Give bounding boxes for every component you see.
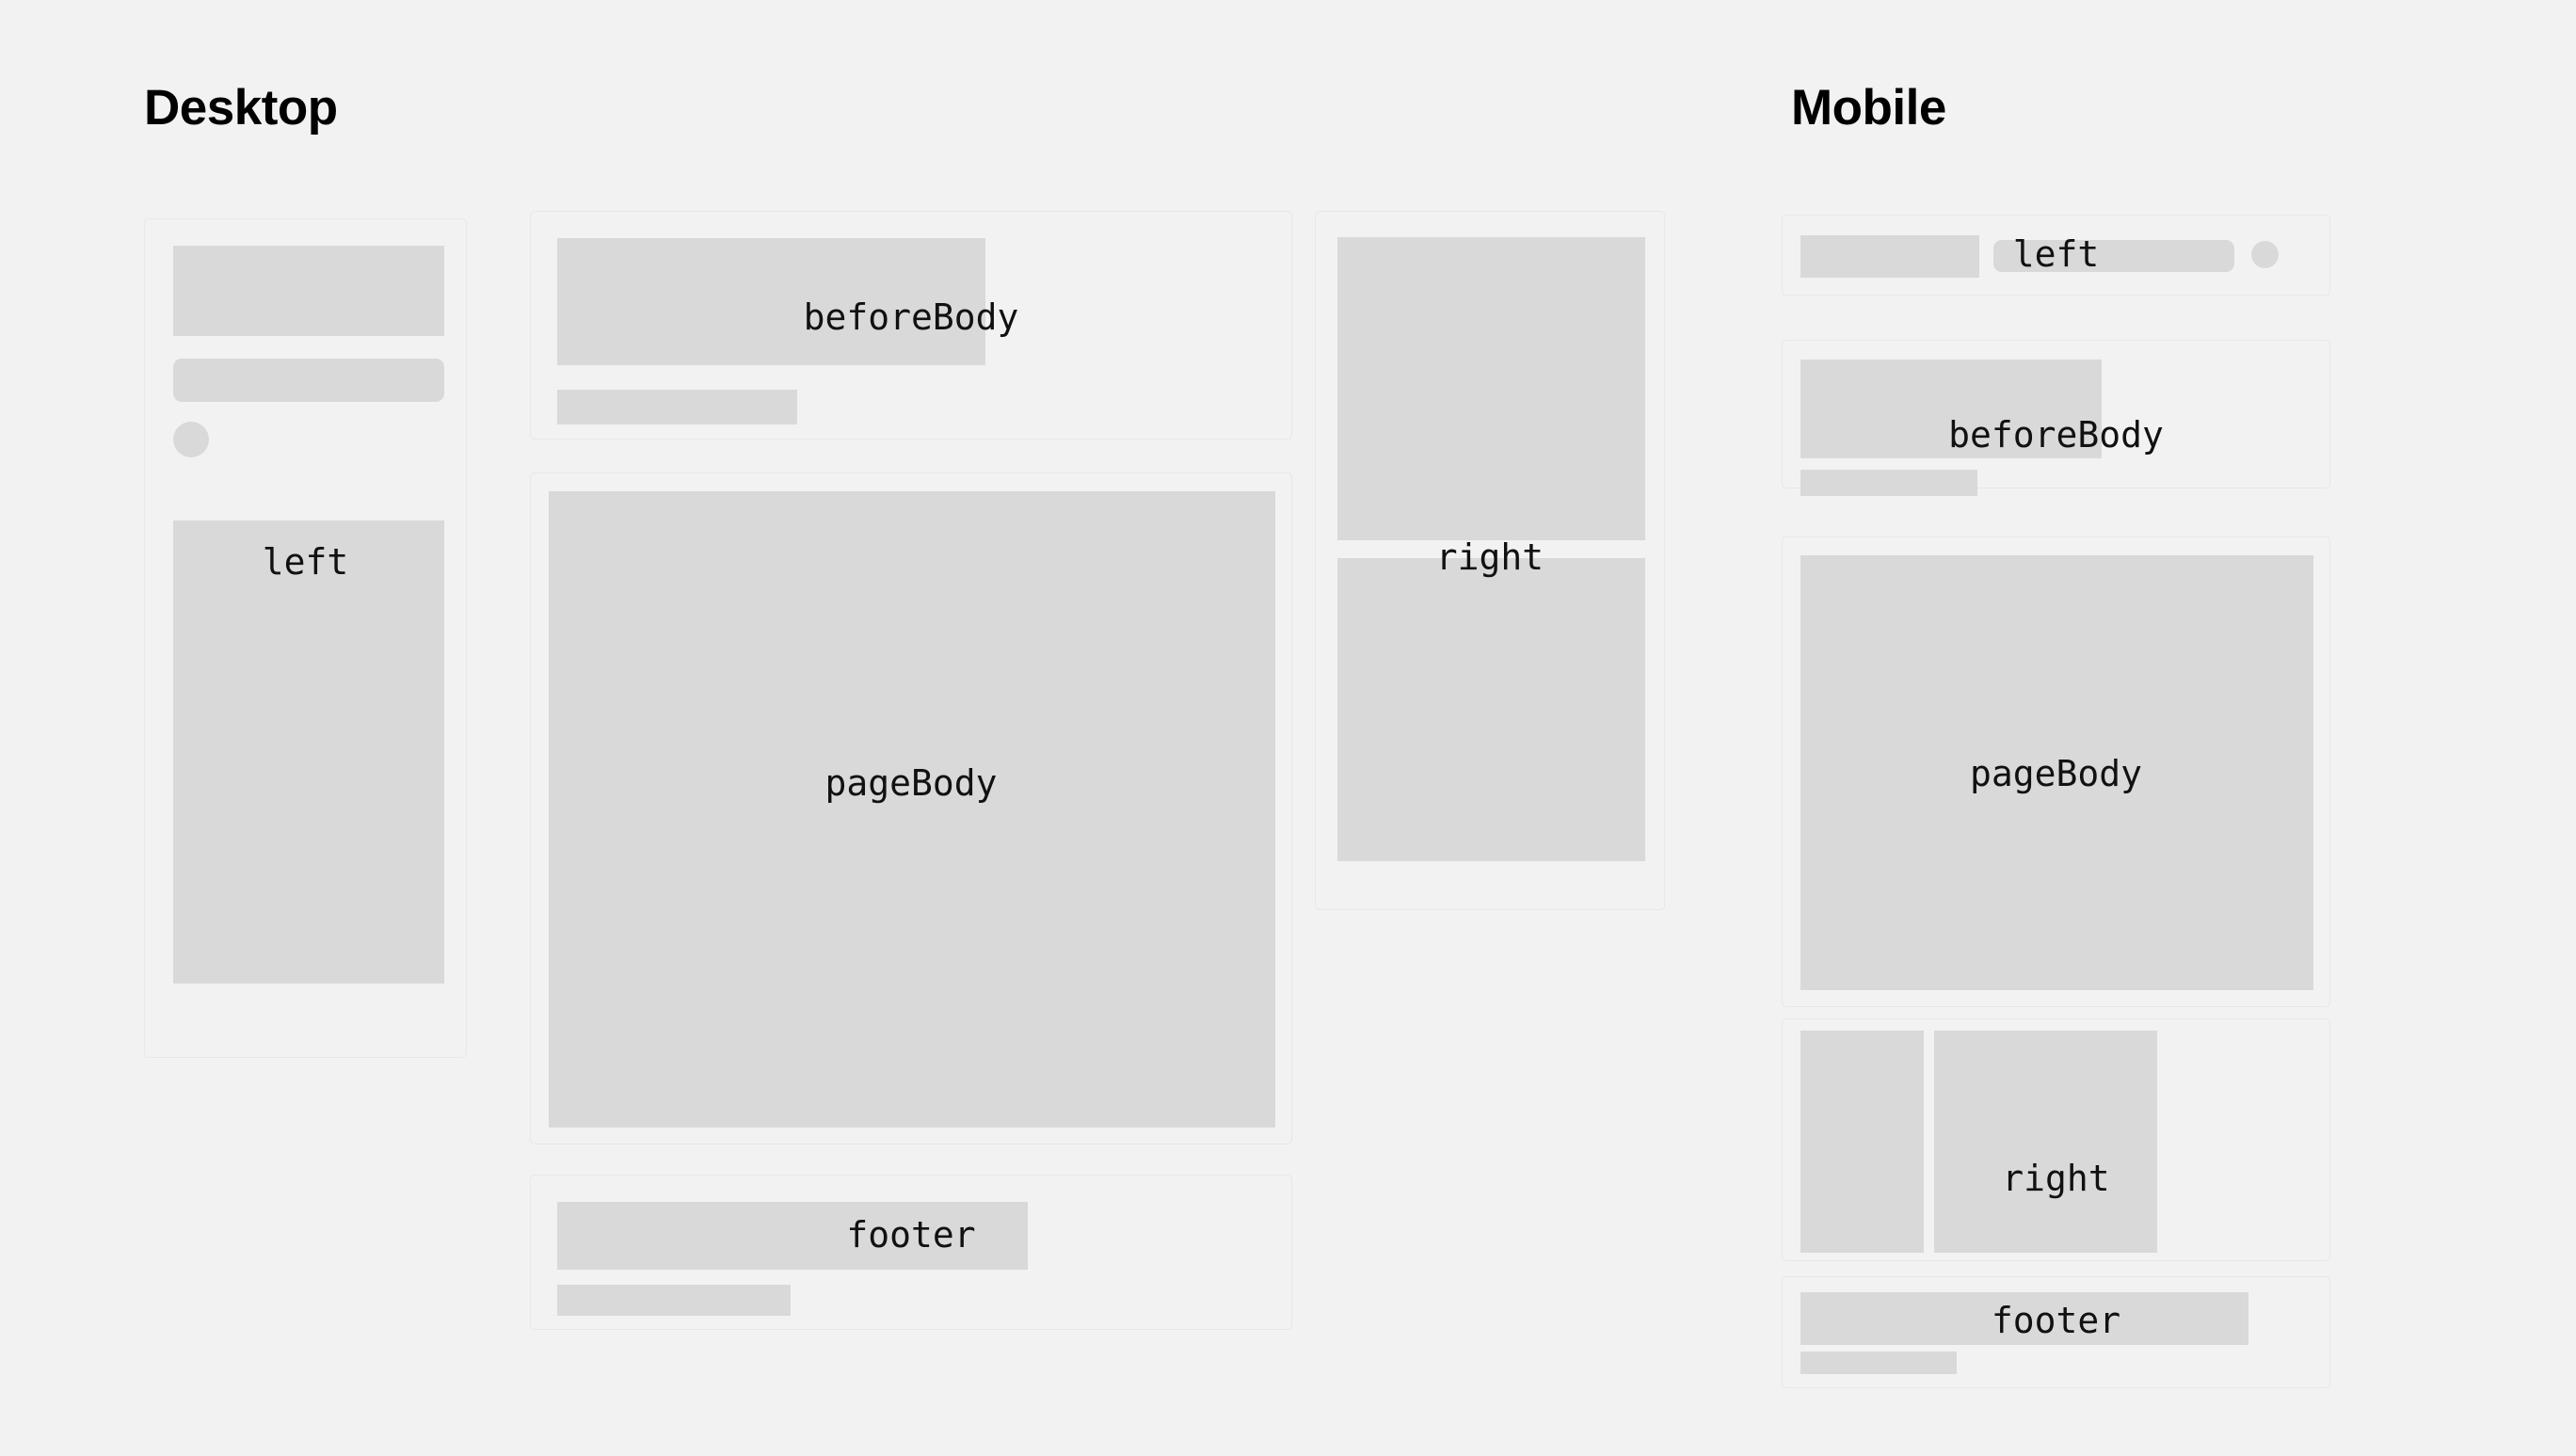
subline-block — [1800, 470, 1977, 496]
widget-block-left — [1800, 1031, 1924, 1253]
headline-block — [557, 238, 985, 365]
avatar-dot-icon — [173, 422, 209, 457]
nav-block — [1993, 240, 2234, 272]
nav-block — [173, 359, 444, 402]
mobile-region-left[interactable] — [1782, 215, 2330, 296]
desktop-section-title: Desktop — [144, 83, 338, 133]
desktop-region-footer[interactable] — [530, 1175, 1292, 1330]
widget-block-right — [1934, 1031, 2157, 1253]
desktop-region-left[interactable] — [144, 218, 467, 1058]
mobile-region-footer[interactable] — [1782, 1276, 2330, 1388]
banner-block — [1800, 235, 1979, 278]
footer-meta-block — [557, 1285, 791, 1316]
desktop-region-pagebody[interactable] — [530, 472, 1292, 1144]
mobile-region-pagebody[interactable] — [1782, 536, 2330, 1007]
sidebar-block — [173, 520, 444, 984]
desktop-region-beforebody[interactable] — [530, 211, 1292, 440]
layout-preview-page: Desktop Mobile left beforeBody pageBody … — [0, 0, 2576, 1456]
mobile-section-title: Mobile — [1791, 83, 1946, 133]
desktop-region-right[interactable] — [1315, 211, 1665, 910]
headline-block — [1800, 360, 2102, 458]
footer-block — [557, 1202, 1028, 1270]
subline-block — [557, 390, 797, 424]
footer-block — [1800, 1292, 2248, 1345]
content-block — [549, 491, 1275, 1128]
banner-block — [173, 246, 444, 336]
avatar-dot-icon — [2251, 241, 2279, 268]
footer-meta-block — [1800, 1352, 1957, 1374]
content-block — [1800, 555, 2313, 990]
mobile-region-beforebody[interactable] — [1782, 340, 2330, 488]
widget-block-top — [1337, 237, 1645, 540]
mobile-region-right[interactable] — [1782, 1018, 2330, 1261]
widget-block-bottom — [1337, 558, 1645, 861]
